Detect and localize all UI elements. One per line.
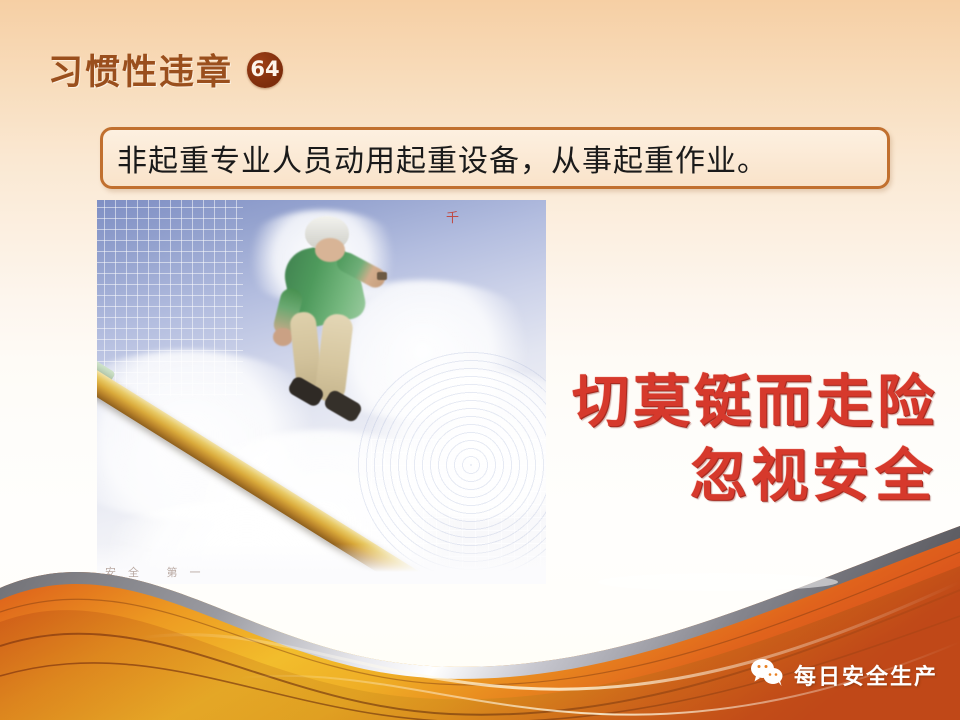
photo-corner-mark: 千	[446, 207, 459, 226]
person-face	[315, 238, 345, 262]
status-badge: 64	[247, 52, 283, 88]
slide-canvas: 习惯性违章 64 非起重专业人员动用起重设备，从事起重作业。	[0, 0, 960, 720]
slogan-line-1: 切莫铤而走险	[498, 374, 938, 431]
slogan-line-2: 忽视安全	[498, 448, 938, 505]
caption-text: 非起重专业人员动用起重设备，从事起重作业。	[117, 136, 768, 180]
wechat-icon	[749, 657, 785, 692]
person-figure	[273, 216, 393, 406]
caption-box: 非起重专业人员动用起重设备，从事起重作业。	[100, 127, 890, 189]
person-wristwatch	[377, 272, 387, 280]
slogan-block: 切莫铤而走险 忽视安全	[498, 374, 938, 505]
wave-strand-1	[0, 590, 960, 715]
grid-overlay-left	[97, 200, 243, 396]
slogan-line-2-prefix: 忽视	[690, 443, 812, 509]
wechat-account-mark: 每日安全生产	[749, 657, 938, 692]
slogan-line-2-emphasis: 安全	[812, 443, 938, 509]
page-title: 习惯性违章	[48, 44, 233, 95]
wave-deep-sweep	[0, 566, 960, 720]
wave-specular-highlight	[598, 573, 838, 591]
person-legs	[289, 312, 365, 402]
photo-bottom-mark: 安全 第一	[105, 564, 213, 580]
wechat-account-name: 每日安全生产	[794, 659, 938, 691]
slide-header: 习惯性违章 64	[48, 44, 283, 95]
illustration-photo: 千 安全 第一	[97, 200, 546, 584]
